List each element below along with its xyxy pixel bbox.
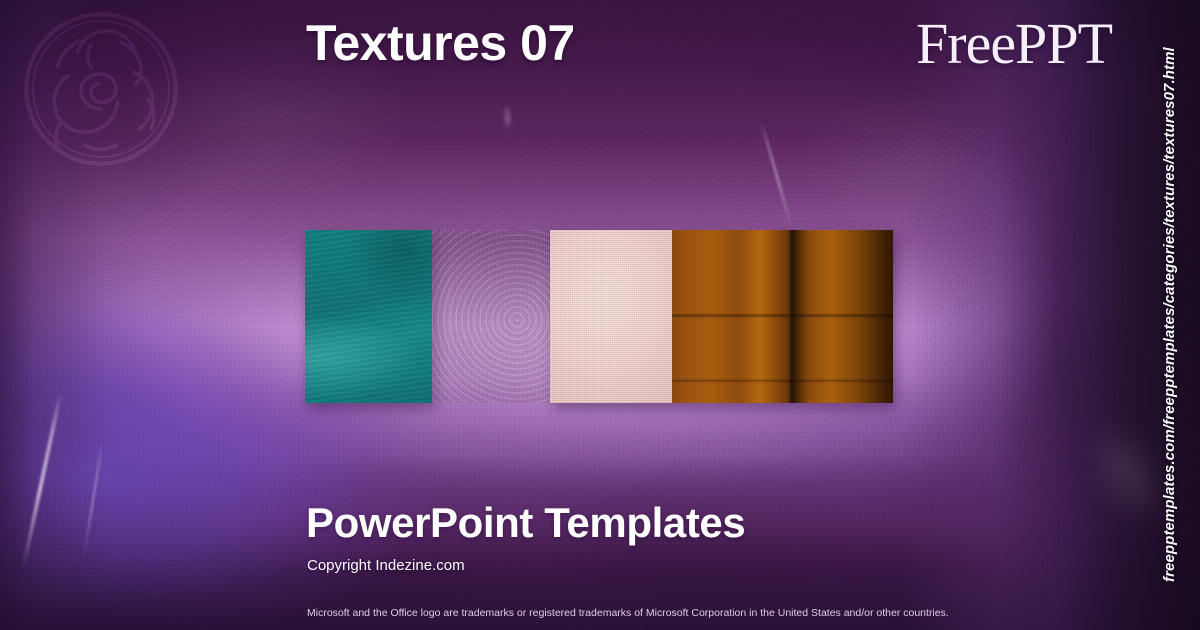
swatch-weave-overlay [672,230,893,403]
swatch-weave-overlay [550,230,672,403]
celtic-spiral-ornament-icon [18,6,184,172]
texture-swatch-strip [305,230,893,403]
slide-canvas: Textures 07 FreePPT PowerPoint Templates… [0,0,1200,630]
trademark-notice: Microsoft and the Office logo are tradem… [307,607,949,619]
swatch-pink-linen-texture [550,230,672,403]
page-subtitle: PowerPoint Templates [306,499,745,547]
swatch-orange-wood-texture [672,230,893,403]
brand-logo: FreePPT [916,10,1112,77]
copyright-notice: Copyright Indezine.com [307,557,465,574]
swatch-magenta-swirl-texture [432,230,550,403]
source-url: freepptemplates.com/freepptemplates/cate… [1159,48,1178,583]
swatch-teal-water-texture [305,230,432,403]
page-title: Textures 07 [306,14,575,72]
swatch-weave-overlay [432,230,550,403]
swatch-weave-overlay [305,230,432,403]
vertical-url-bar: freepptemplates.com/freepptemplates/cate… [1138,0,1200,630]
